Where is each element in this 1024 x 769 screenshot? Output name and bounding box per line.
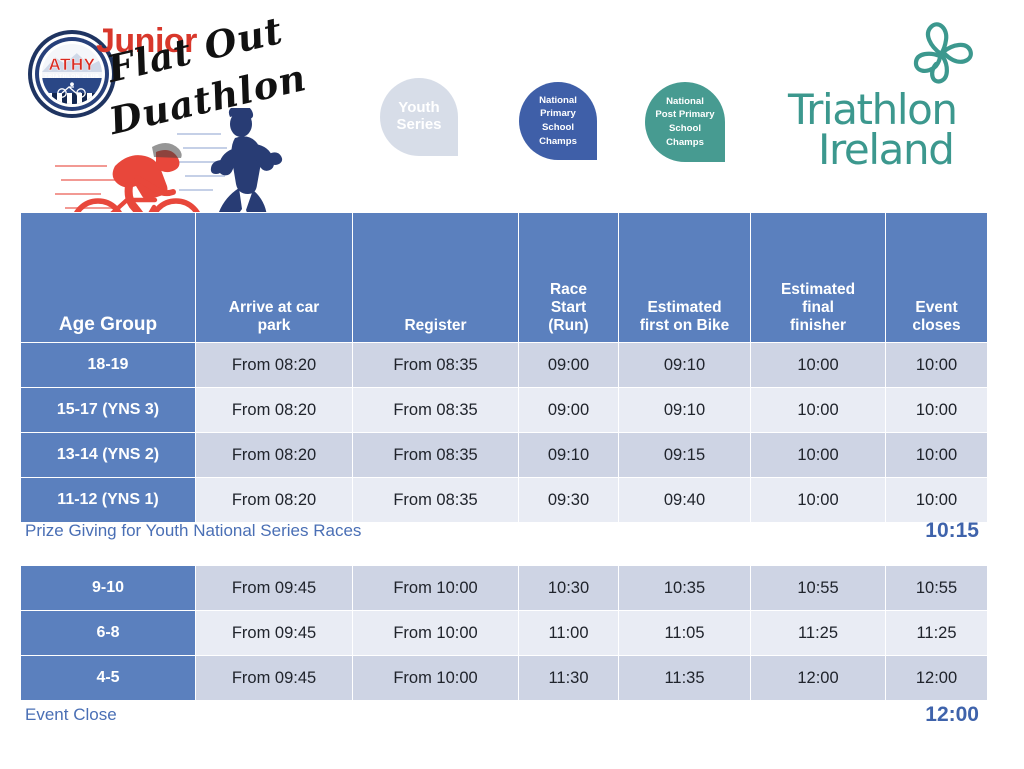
cell-age-group: 13-14 (YNS 2) xyxy=(21,433,196,478)
badge-youth-line-2: Series xyxy=(396,117,441,134)
table-row: 18-19 From 08:20 From 08:35 09:00 09:10 … xyxy=(21,343,988,388)
cell-register: From 10:00 xyxy=(353,656,519,701)
cell-age-group: 6-8 xyxy=(21,611,196,656)
schedule-table-block-one: Age Group Arrive at car park Register Ra… xyxy=(20,212,988,523)
column-header-arrive-at-car-park: Arrive at car park xyxy=(196,213,353,343)
badge-national-primary-school-champs: National Primary School Champs xyxy=(519,82,597,160)
col-age-l1: Age Group xyxy=(59,314,157,335)
col-finish-l2: final xyxy=(802,299,834,316)
cell-race-start: 11:30 xyxy=(519,656,619,701)
table-header-row: Age Group Arrive at car park Register Ra… xyxy=(21,213,988,343)
prize-giving-time: 10:15 xyxy=(925,514,979,548)
col-start-l2: Start xyxy=(551,299,586,316)
event-close-time: 12:00 xyxy=(925,698,979,732)
cell-age-group: 9-10 xyxy=(21,566,196,611)
cyclist-icon xyxy=(55,82,89,98)
cell-arrive: From 08:20 xyxy=(196,433,353,478)
triathlon-ireland-wordmark: Triathlon Ireland xyxy=(788,90,984,171)
badge-youth-series: Youth Series xyxy=(380,78,458,156)
cell-register: From 08:35 xyxy=(353,388,519,433)
cell-final-finisher: 11:25 xyxy=(751,611,886,656)
badge-youth-line-1: Youth xyxy=(396,100,441,117)
triathlon-ireland-logo: Triathlon Ireland xyxy=(788,18,984,168)
col-arrive-l1: Arrive at car xyxy=(229,299,319,316)
column-header-age-group: Age Group xyxy=(21,213,196,343)
col-finish-l3: finisher xyxy=(790,317,846,334)
col-finish-l1: Estimated xyxy=(781,281,855,298)
cell-register: From 10:00 xyxy=(353,566,519,611)
cell-event-closes: 12:00 xyxy=(886,656,988,701)
table-row: 4-5 From 09:45 From 10:00 11:30 11:35 12… xyxy=(21,656,988,701)
event-close-label: Event Close xyxy=(25,698,117,732)
col-close-l2: closes xyxy=(912,317,960,334)
badge-primary-line-2: Primary xyxy=(539,107,577,121)
cell-first-bike: 09:10 xyxy=(619,388,751,433)
cell-race-start: 09:00 xyxy=(519,388,619,433)
badge-post-line-2: Post Primary xyxy=(655,108,714,122)
badge-post-line-4: Champs xyxy=(655,136,714,150)
col-bike-l2: first on Bike xyxy=(640,317,730,334)
cell-first-bike: 09:10 xyxy=(619,343,751,388)
event-close-row: Event Close 12:00 xyxy=(22,698,987,732)
column-header-register: Register xyxy=(353,213,519,343)
cell-event-closes: 11:25 xyxy=(886,611,988,656)
cell-register: From 08:35 xyxy=(353,343,519,388)
cell-race-start: 10:30 xyxy=(519,566,619,611)
table-row: 9-10 From 09:45 From 10:00 10:30 10:35 1… xyxy=(21,566,988,611)
column-header-estimated-first-on-bike: Estimated first on Bike xyxy=(619,213,751,343)
cell-arrive: From 08:20 xyxy=(196,343,353,388)
cell-final-finisher: 10:55 xyxy=(751,566,886,611)
prize-giving-label: Prize Giving for Youth National Series R… xyxy=(25,514,361,548)
cell-arrive: From 08:20 xyxy=(196,388,353,433)
poster-root: ATHY TRIATHLON CLUB Junior Flat Out Duat… xyxy=(0,0,1024,769)
col-start-l1: Race xyxy=(550,281,587,298)
logo-club-subtitle: TRIATHLON CLUB xyxy=(28,75,116,80)
cell-event-closes: 10:00 xyxy=(886,343,988,388)
cell-first-bike: 11:35 xyxy=(619,656,751,701)
col-close-l1: Event xyxy=(915,299,957,316)
ti-word-line-2: Ireland xyxy=(788,130,984,170)
table-row: 15-17 (YNS 3) From 08:20 From 08:35 09:0… xyxy=(21,388,988,433)
cell-event-closes: 10:55 xyxy=(886,566,988,611)
table-row: 6-8 From 09:45 From 10:00 11:00 11:05 11… xyxy=(21,611,988,656)
brand-header: ATHY TRIATHLON CLUB Junior Flat Out Duat… xyxy=(0,0,1024,212)
cell-age-group: 4-5 xyxy=(21,656,196,701)
schedule-table-block-two: 9-10 From 09:45 From 10:00 10:30 10:35 1… xyxy=(20,565,988,701)
cell-register: From 10:00 xyxy=(353,611,519,656)
cell-arrive: From 09:45 xyxy=(196,611,353,656)
col-bike-l1: Estimated xyxy=(647,299,721,316)
badge-post-line-3: School xyxy=(655,122,714,136)
cell-first-bike: 10:35 xyxy=(619,566,751,611)
badge-national-post-primary-school-champs: National Post Primary School Champs xyxy=(645,82,725,162)
prize-giving-row: Prize Giving for Youth National Series R… xyxy=(22,514,987,548)
cell-age-group: 15-17 (YNS 3) xyxy=(21,388,196,433)
col-start-l3: (Run) xyxy=(548,317,588,334)
badge-post-line-1: National xyxy=(655,95,714,109)
badge-primary-line-4: Champs xyxy=(539,135,577,149)
cell-register: From 08:35 xyxy=(353,433,519,478)
cell-race-start: 11:00 xyxy=(519,611,619,656)
cell-event-closes: 10:00 xyxy=(886,433,988,478)
cell-event-closes: 10:00 xyxy=(886,388,988,433)
badge-primary-line-1: National xyxy=(539,94,577,108)
cell-final-finisher: 10:00 xyxy=(751,343,886,388)
cell-final-finisher: 10:00 xyxy=(751,433,886,478)
column-header-race-start-run: Race Start (Run) xyxy=(519,213,619,343)
cell-arrive: From 09:45 xyxy=(196,566,353,611)
column-header-event-closes: Event closes xyxy=(886,213,988,343)
cell-first-bike: 11:05 xyxy=(619,611,751,656)
cell-arrive: From 09:45 xyxy=(196,656,353,701)
col-register-l1: Register xyxy=(404,317,466,334)
table-row: 13-14 (YNS 2) From 08:20 From 08:35 09:1… xyxy=(21,433,988,478)
cell-race-start: 09:10 xyxy=(519,433,619,478)
cell-race-start: 09:00 xyxy=(519,343,619,388)
cell-age-group: 18-19 xyxy=(21,343,196,388)
col-arrive-l2: park xyxy=(258,317,291,334)
badge-primary-line-3: School xyxy=(539,121,577,135)
cell-final-finisher: 10:00 xyxy=(751,388,886,433)
cell-final-finisher: 12:00 xyxy=(751,656,886,701)
cell-first-bike: 09:15 xyxy=(619,433,751,478)
column-header-estimated-final-finisher: Estimated final finisher xyxy=(751,213,886,343)
